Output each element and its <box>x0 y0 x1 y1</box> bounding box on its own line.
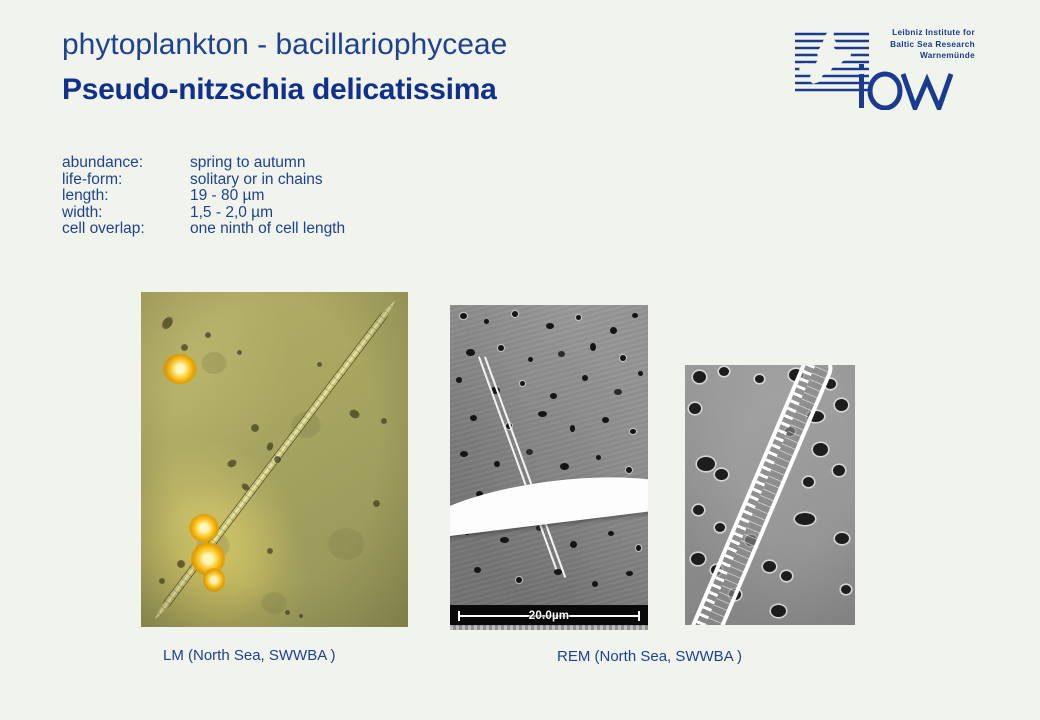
membrane-pore <box>592 581 598 587</box>
membrane-pore <box>693 505 704 515</box>
property-row-width: width: 1,5 - 2,0 µm <box>62 205 345 222</box>
membrane-pore <box>590 343 596 351</box>
membrane-pore <box>596 455 601 460</box>
membrane-pore <box>803 477 814 487</box>
property-label: cell overlap: <box>62 221 190 238</box>
membrane-pore <box>771 605 786 617</box>
membrane-pore <box>498 345 504 351</box>
property-label: abundance: <box>62 155 190 172</box>
membrane-pore <box>520 381 525 386</box>
membrane-pore <box>689 403 701 414</box>
property-label: length: <box>62 188 190 205</box>
membrane-pore <box>470 415 477 421</box>
logo-wordmark-iow <box>855 60 975 110</box>
membrane-pore <box>715 469 728 480</box>
scale-bar: 20.0µm <box>450 605 648 626</box>
property-value: solitary or in chains <box>190 172 323 189</box>
membrane-pore <box>500 537 509 543</box>
membrane-pore <box>763 561 776 572</box>
membrane-pore <box>550 393 557 399</box>
property-row-life-form: life-form: solitary or in chains <box>62 172 345 189</box>
membrane-pore <box>781 571 792 581</box>
membrane-pore <box>554 569 562 575</box>
membrane-pore <box>602 417 609 423</box>
membrane-pore <box>608 531 614 536</box>
membrane-pore <box>526 449 533 455</box>
sem-detail-micrograph <box>685 365 855 625</box>
membrane-pore <box>474 567 481 573</box>
membrane-pore <box>570 425 575 432</box>
logo-line-2: Baltic Sea Research <box>863 39 975 51</box>
membrane-pore <box>630 429 636 434</box>
lm-vignette <box>141 292 408 627</box>
property-value: spring to autumn <box>190 155 305 172</box>
property-value: 1,5 - 2,0 µm <box>190 205 273 222</box>
property-row-cell-overlap: cell overlap: one ninth of cell length <box>62 221 345 238</box>
lm-micrograph <box>141 292 408 627</box>
membrane-pore <box>697 457 715 471</box>
membrane-pore <box>626 571 633 576</box>
membrane-pore <box>755 375 764 383</box>
property-label: width: <box>62 205 190 222</box>
property-value: one ninth of cell length <box>190 221 345 238</box>
sem-info-strip <box>450 625 648 630</box>
membrane-pore <box>632 313 638 318</box>
membrane-pore <box>466 349 475 356</box>
property-row-abundance: abundance: spring to autumn <box>62 155 345 172</box>
membrane-pore <box>512 311 518 317</box>
iow-logo: Leibniz Institute for Baltic Sea Researc… <box>793 27 973 109</box>
membrane-pore <box>546 323 554 329</box>
property-label: life-form: <box>62 172 190 189</box>
membrane-pore <box>538 411 547 417</box>
membrane-pore <box>841 585 851 594</box>
membrane-pore <box>456 377 462 383</box>
property-value: 19 - 80 µm <box>190 188 264 205</box>
membrane-pore <box>494 461 500 467</box>
title-group: phytoplankton - bacillariophyceae Pseudo… <box>62 28 507 106</box>
sem-micrograph: 20.0µm <box>450 305 648 630</box>
membrane-pore <box>833 465 845 476</box>
membrane-pore <box>795 513 815 525</box>
membrane-pore <box>484 319 489 324</box>
membrane-pore <box>636 545 641 551</box>
page-title: phytoplankton - bacillariophyceae <box>62 28 507 61</box>
membrane-pore <box>582 375 588 381</box>
membrane-pore <box>576 315 581 320</box>
membrane-pore <box>620 355 626 361</box>
membrane-pore <box>528 357 533 362</box>
membrane-pore <box>516 577 522 583</box>
property-row-length: length: 19 - 80 µm <box>62 188 345 205</box>
species-title: Pseudo-nitzschia delicatissima <box>62 73 507 106</box>
membrane-pore <box>610 327 617 334</box>
membrane-pore <box>813 443 828 456</box>
logo-institute-text: Leibniz Institute for Baltic Sea Researc… <box>863 27 975 62</box>
scale-bar-label: 20.0µm <box>450 610 648 622</box>
membrane-pore <box>460 313 467 319</box>
membrane-pore <box>693 371 706 383</box>
membrane-pore <box>835 399 848 411</box>
membrane-pore <box>691 553 705 565</box>
membrane-pore <box>626 467 632 473</box>
membrane-pore <box>560 463 569 470</box>
membrane-pore <box>638 371 643 376</box>
logo-line-1: Leibniz Institute for <box>863 27 975 39</box>
properties-list: abundance: spring to autumn life-form: s… <box>62 155 345 238</box>
membrane-pore <box>614 389 622 395</box>
sem-texture <box>450 305 648 630</box>
membrane-pore <box>460 451 468 457</box>
sem-caption: REM (North Sea, SWWBA ) <box>557 648 742 665</box>
membrane-pore <box>558 351 565 357</box>
membrane-pore <box>715 523 725 532</box>
lm-caption: LM (North Sea, SWWBA ) <box>163 647 336 664</box>
membrane-pore <box>835 533 849 544</box>
membrane-pore <box>719 367 729 376</box>
slide: phytoplankton - bacillariophyceae Pseudo… <box>0 0 1040 720</box>
membrane-pore <box>570 541 577 548</box>
